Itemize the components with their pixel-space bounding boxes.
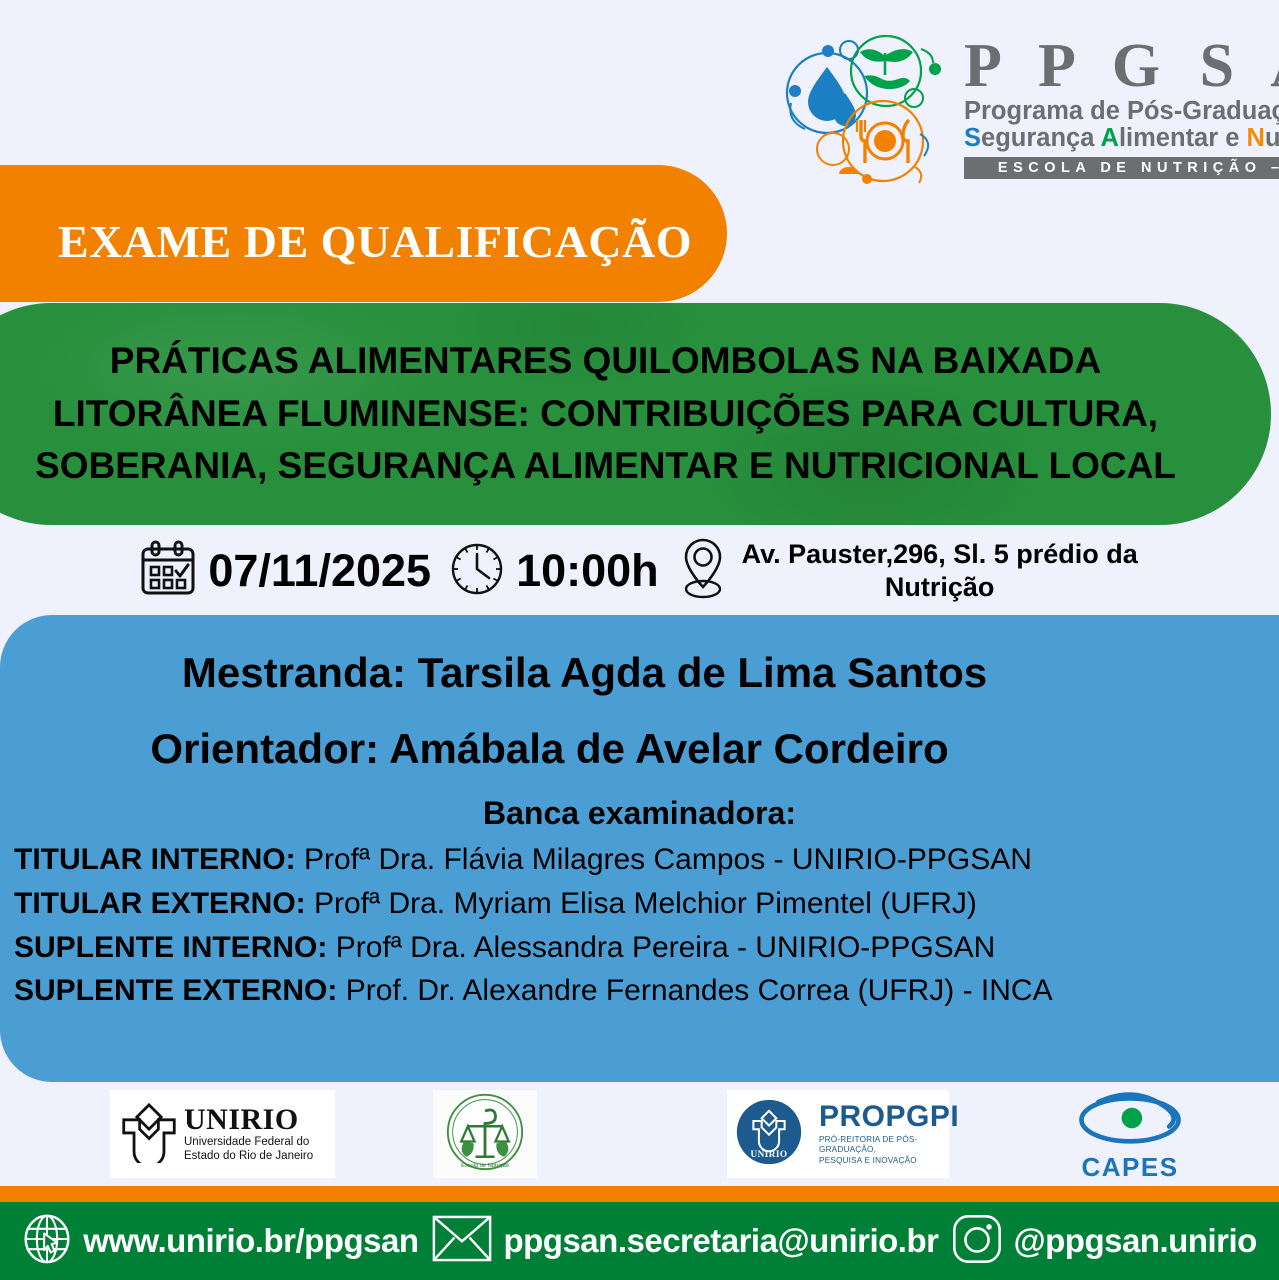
orientador-name: Amábala de Avelar Cordeiro (389, 725, 948, 772)
unirio-subtitle: Universidade Federal do Estado do Rio de… (184, 1136, 313, 1163)
capes-ellipse-icon (1074, 1089, 1186, 1152)
exam-type-ribbon: EXAME DE QUALIFICAÇÃO (0, 165, 727, 302)
footer-website[interactable]: www.unirio.br/ppgsan (22, 1213, 418, 1270)
ppgsan-school-bar: ESCOLA DE NUTRIÇÃO – UNIRIO (964, 157, 1279, 179)
mestranda-role-label: Mestranda: (182, 649, 406, 696)
banca-role-label: SUPLENTE INTERNO: (14, 931, 327, 964)
footer-email-text: ppgsan.secretaria@unirio.br (503, 1222, 938, 1260)
unirio-wordmark: UNIRIO Universidade Federal do Estado do… (184, 1105, 313, 1163)
footer-email[interactable]: ppgsan.secretaria@unirio.br (432, 1215, 938, 1267)
mestranda-line: Mestranda: Tarsila Agda de Lima Santos (0, 649, 1279, 697)
orientador-role-label: Orientador: (150, 725, 379, 772)
banca-heading: Banca examinadora: (0, 795, 1279, 832)
event-place-text: Av. Pauster,296, Sl. 5 prédio da Nutriçã… (740, 538, 1140, 604)
unirio-circle-icon: UNIRIO (735, 1098, 803, 1171)
footer-instagram-text: @ppgsan.unirio (1013, 1222, 1256, 1260)
event-time-text: 10:00h (516, 545, 659, 597)
unirio-crest-icon (120, 1101, 178, 1168)
svg-text:UNIRIO: UNIRIO (751, 1148, 788, 1158)
mestranda-name: Tarsila Agda de Lima Santos (418, 649, 987, 696)
banca-role-label: TITULAR INTERNO: (14, 843, 296, 876)
banca-person-name: Prof. Dr. Alexandre Fernandes Correa (UF… (346, 974, 1053, 1007)
ppgsan-wordmark: P P G S A N (964, 37, 1279, 96)
map-pin-icon (677, 537, 729, 606)
propgpi-logo: UNIRIO PROPGPI PRÓ-REITORIA DE PÓS-GRADU… (727, 1090, 949, 1178)
propgpi-name: PROPGPI (819, 1102, 959, 1132)
instagram-icon (952, 1214, 1002, 1269)
event-date: 07/11/2025 (139, 540, 431, 603)
svg-text:Escola de Nutrição: Escola de Nutrição (461, 1163, 509, 1169)
orange-divider-strip (0, 1186, 1279, 1202)
footer-instagram[interactable]: @ppgsan.unirio (952, 1214, 1256, 1269)
escola-nutricao-logo: Escola de Nutrição (433, 1090, 537, 1178)
ppgsan-logo-icon (775, 31, 950, 186)
unirio-logo: UNIRIO Universidade Federal do Estado do… (110, 1090, 335, 1178)
capes-logo: CAPES (1068, 1088, 1192, 1180)
banca-row: SUPLENTE INTERNO: Profª Dra. Alessandra … (14, 926, 1279, 970)
orientador-line: Orientador: Amábala de Avelar Cordeiro (0, 725, 1279, 773)
escola-nutricao-seal-icon: Escola de Nutrição (445, 1092, 525, 1177)
banca-person-name: Profª Dra. Flávia Milagres Campos - UNIR… (304, 843, 1032, 876)
banca-role-label: SUPLENTE EXTERNO: (14, 974, 337, 1007)
page-title: PRÁTICAS ALIMENTARES QUILOMBOLAS NA BAIX… (11, 335, 1201, 493)
clock-icon (449, 541, 505, 602)
poster-root: P P G S A N Programa de Pós-Graduação em… (0, 0, 1279, 1280)
banca-person-name: Profª Dra. Alessandra Pereira - UNIRIO-P… (336, 931, 996, 964)
event-date-text: 07/11/2025 (208, 545, 431, 597)
banca-role-label: TITULAR EXTERNO: (14, 887, 306, 920)
unirio-subtitle-line2: Estado do Rio de Janeiro (184, 1150, 313, 1164)
propgpi-subtitle-line1: PRÓ-REITORIA DE PÓS-GRADUAÇÃO, (819, 1135, 959, 1156)
exam-type-label: EXAME DE QUALIFICAÇÃO (58, 215, 692, 268)
banca-row: TITULAR INTERNO: Profª Dra. Flávia Milag… (14, 838, 1279, 882)
event-place: Av. Pauster,296, Sl. 5 prédio da Nutriçã… (677, 537, 1140, 606)
event-info-row: 07/11/2025 10:00h (0, 527, 1279, 615)
details-panel: Mestranda: Tarsila Agda de Lima Santos O… (0, 615, 1279, 1082)
banca-list: TITULAR INTERNO: Profª Dra. Flávia Milag… (0, 838, 1279, 1013)
footer-website-text: www.unirio.br/ppgsan (83, 1222, 418, 1260)
banca-row: SUPLENTE EXTERNO: Prof. Dr. Alexandre Fe… (14, 969, 1279, 1013)
unirio-subtitle-line1: Universidade Federal do (184, 1136, 313, 1150)
banca-person-name: Profª Dra. Myriam Elisa Melchior Pimente… (314, 887, 977, 920)
sponsor-logo-strip: UNIRIO Universidade Federal do Estado do… (0, 1082, 1279, 1186)
ppgsan-logo-header: P P G S A N Programa de Pós-Graduação em… (775, 28, 1265, 188)
calendar-icon (139, 540, 197, 603)
capes-name: CAPES (1081, 1154, 1178, 1180)
unirio-name: UNIRIO (184, 1105, 313, 1135)
propgpi-wordmark: PROPGPI PRÓ-REITORIA DE PÓS-GRADUAÇÃO, P… (819, 1102, 959, 1167)
envelope-icon (432, 1215, 492, 1267)
banca-row: TITULAR EXTERNO: Profª Dra. Myriam Elisa… (14, 882, 1279, 926)
event-time: 10:00h (449, 541, 659, 602)
thesis-title-panel: PRÁTICAS ALIMENTARES QUILOMBOLAS NA BAIX… (0, 303, 1271, 525)
ppgsan-tagline-line2: Segurança Alimentar e Nutricional (964, 125, 1279, 153)
propgpi-subtitle-line2: PESQUISA E INOVAÇÃO (819, 1156, 959, 1167)
propgpi-subtitle: PRÓ-REITORIA DE PÓS-GRADUAÇÃO, PESQUISA … (819, 1135, 959, 1167)
contact-footer: www.unirio.br/ppgsan ppgsan.secretaria@u… (0, 1202, 1279, 1280)
ppgsan-logo-text: P P G S A N Programa de Pós-Graduação em… (964, 37, 1279, 179)
ppgsan-tagline-line1: Programa de Pós-Graduação em (964, 98, 1279, 126)
globe-cursor-icon (22, 1213, 72, 1270)
